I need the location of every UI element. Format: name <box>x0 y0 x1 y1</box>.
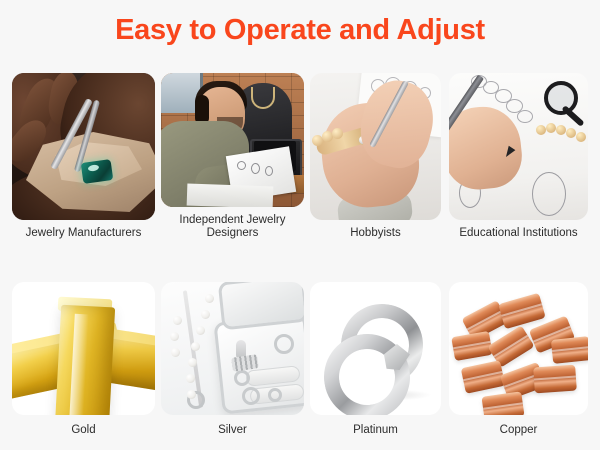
page-title: Easy to Operate and Adjust <box>0 14 600 47</box>
caption-independent-jewelry-designers: Independent Jewelry Designers <box>161 214 304 240</box>
photo-hobbyists[interactable] <box>310 73 441 220</box>
caption-gold: Gold <box>12 424 155 437</box>
grid-cell-silver[interactable]: Silver <box>161 282 304 437</box>
grid-cell-platinum[interactable]: Platinum <box>310 282 441 437</box>
material-row: Gold <box>12 282 588 437</box>
image-grid: Jewelry Manufacturers <box>12 73 588 437</box>
grid-cell-educational-institutions[interactable]: Educational Institutions <box>449 73 588 240</box>
photo-jewelry-manufacturers[interactable] <box>12 73 155 220</box>
photo-gold[interactable] <box>12 282 155 415</box>
caption-jewelry-manufacturers: Jewelry Manufacturers <box>12 227 155 240</box>
photo-educational-institutions[interactable] <box>449 73 588 220</box>
photo-platinum[interactable] <box>310 282 441 415</box>
grid-cell-independent-jewelry-designers[interactable]: Independent Jewelry Designers <box>161 73 304 240</box>
grid-cell-gold[interactable]: Gold <box>12 282 155 437</box>
caption-hobbyists: Hobbyists <box>310 227 441 240</box>
audience-row: Jewelry Manufacturers <box>12 73 588 240</box>
caption-copper: Copper <box>449 424 588 437</box>
grid-cell-hobbyists[interactable]: Hobbyists <box>310 73 441 240</box>
caption-silver: Silver <box>161 424 304 437</box>
caption-educational-institutions: Educational Institutions <box>449 227 588 240</box>
grid-cell-copper[interactable]: Copper <box>449 282 588 437</box>
caption-platinum: Platinum <box>310 424 441 437</box>
photo-silver[interactable] <box>161 282 304 415</box>
grid-cell-jewelry-manufacturers[interactable]: Jewelry Manufacturers <box>12 73 155 240</box>
photo-independent-jewelry-designers[interactable] <box>161 73 304 207</box>
photo-copper[interactable] <box>449 282 588 415</box>
infographic-page: Easy to Operate and Adjust <box>0 0 600 450</box>
